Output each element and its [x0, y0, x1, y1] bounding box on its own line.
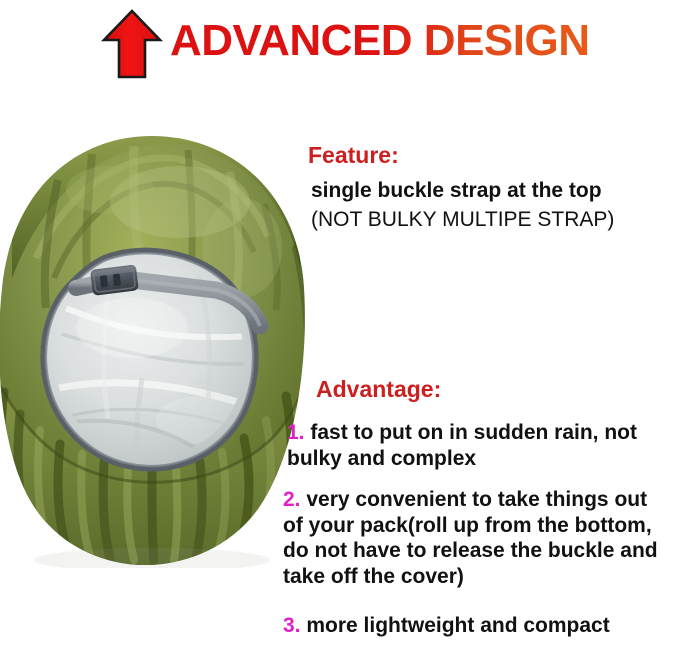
advantage-item-1-text: fast to put on in sudden rain, not bulky… — [287, 421, 637, 470]
feature-line-2: (NOT BULKY MULTIPE STRAP) — [311, 205, 675, 234]
header: ADVANCED DESIGN — [0, 0, 679, 100]
product-feature-graphic: ADVANCED DESIGN — [0, 0, 679, 645]
advantage-item-2-text: very convenient to take things out of yo… — [283, 488, 658, 588]
feature-line-1: single buckle strap at the top — [311, 176, 675, 205]
up-arrow-icon — [101, 9, 163, 79]
advantage-heading: Advantage: — [316, 374, 441, 404]
page-title: ADVANCED DESIGN — [170, 15, 590, 67]
backpack-rain-cover-photo — [0, 128, 312, 568]
advantage-item-3-number: 3. — [283, 614, 301, 637]
advantage-item-3-text: more lightweight and compact — [306, 614, 609, 637]
advantage-item-2-number: 2. — [283, 488, 301, 511]
advantage-item-3: 3. more lightweight and compact — [283, 613, 663, 639]
feature-body: single buckle strap at the top (NOT BULK… — [311, 176, 675, 234]
advantage-item-2: 2. very convenient to take things out of… — [283, 487, 663, 589]
advantage-item-1-number: 1. — [287, 421, 305, 444]
advantage-item-1: 1. fast to put on in sudden rain, not bu… — [287, 420, 667, 471]
feature-heading: Feature: — [308, 140, 399, 170]
